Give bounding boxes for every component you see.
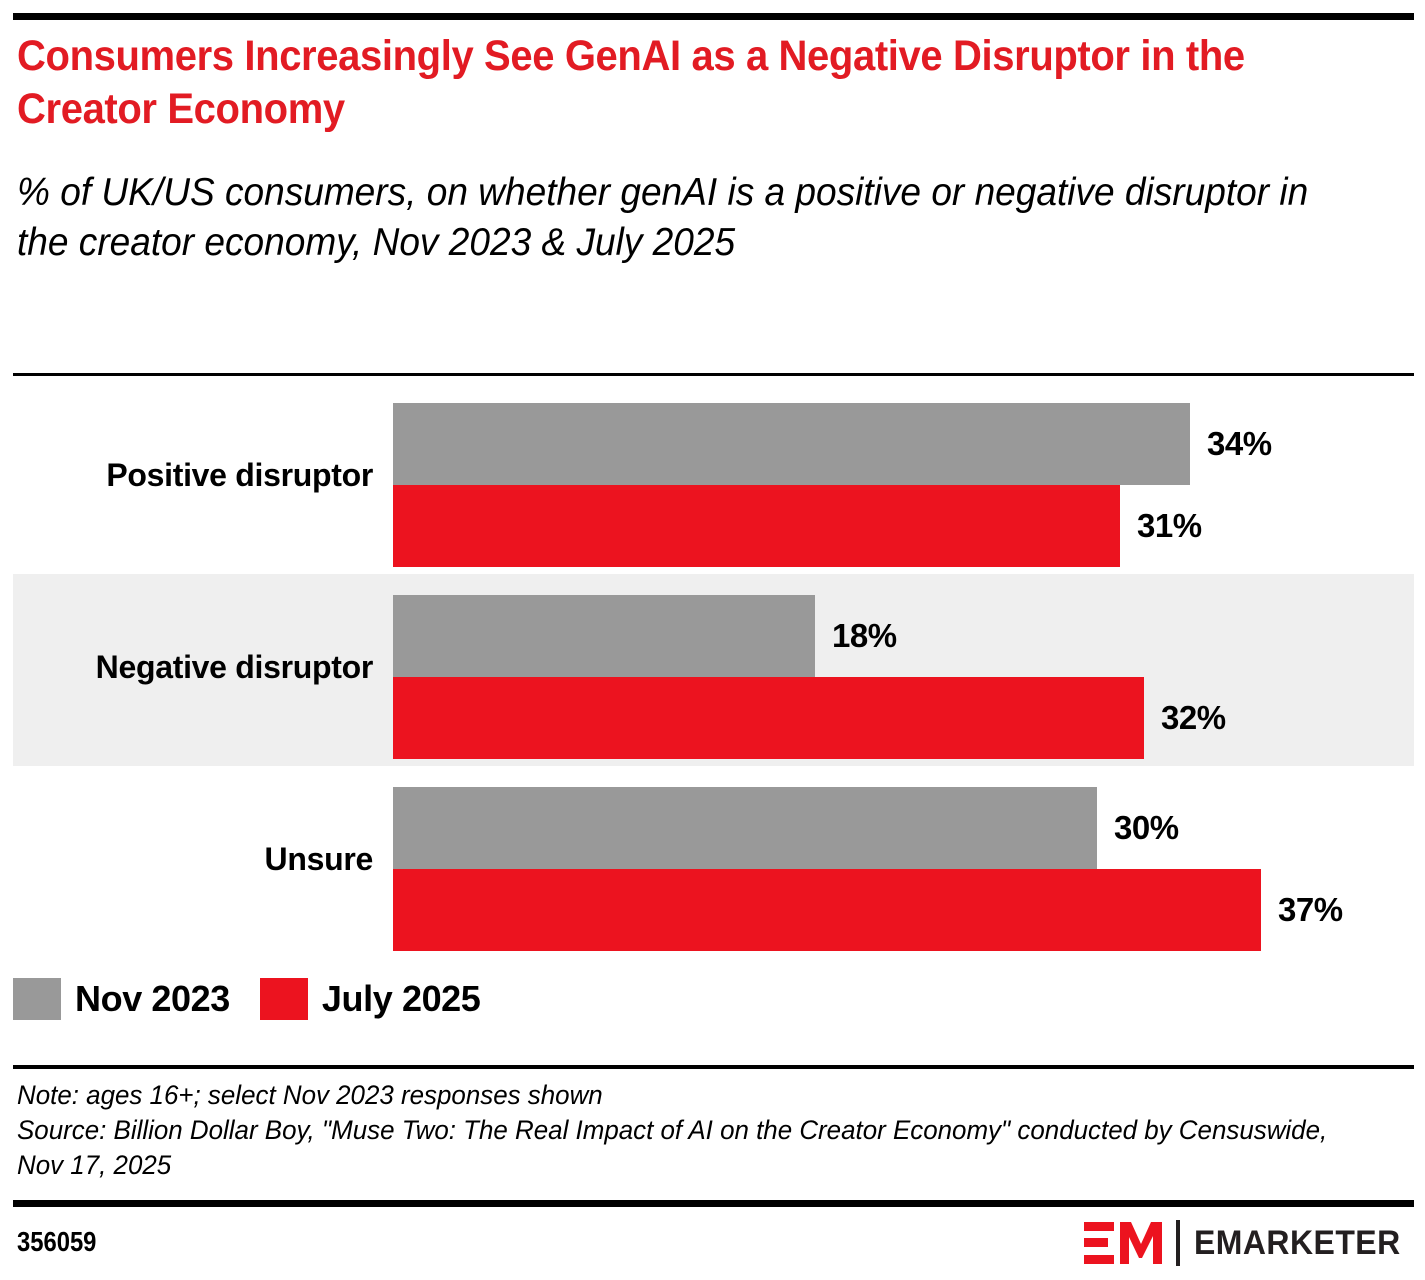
legend-swatch-nov-2023 xyxy=(13,978,61,1020)
em-logo-icon xyxy=(1084,1222,1162,1264)
category-label: Unsure xyxy=(0,841,373,878)
chart-id: 356059 xyxy=(17,1226,96,1258)
chart-title: Consumers Increasingly See GenAI as a Ne… xyxy=(17,30,1310,136)
emarketer-brand: EMARKETER xyxy=(1084,1219,1414,1267)
bar-nov-2023[interactable] xyxy=(393,403,1190,485)
note-divider-rule xyxy=(13,1065,1414,1069)
bar-july-2025[interactable] xyxy=(393,677,1144,759)
top-rule xyxy=(13,13,1414,20)
bar-stack: 30%37% xyxy=(393,787,1425,951)
chart-page: Consumers Increasingly See GenAI as a Ne… xyxy=(0,0,1425,1280)
category-label: Negative disruptor xyxy=(0,649,373,686)
chart-legend: Nov 2023 July 2025 xyxy=(13,978,510,1020)
brand-wordmark: EMARKETER xyxy=(1194,1224,1401,1263)
bar-row: 34% xyxy=(393,403,1425,485)
bar-group: Unsure30%37% xyxy=(0,766,1425,958)
bar-value-label: 37% xyxy=(1261,869,1343,951)
bar-row: 18% xyxy=(393,595,1425,677)
bottom-rule xyxy=(13,1200,1414,1207)
bar-stack: 34%31% xyxy=(393,403,1425,567)
bar-value-label: 18% xyxy=(815,595,897,677)
plot-area: Positive disruptor34%31%Negative disrupt… xyxy=(0,382,1425,962)
bar-nov-2023[interactable] xyxy=(393,595,815,677)
legend-swatch-july-2025 xyxy=(260,978,308,1020)
bar-row: 32% xyxy=(393,677,1425,759)
legend-label-july-2025: July 2025 xyxy=(322,978,481,1020)
bar-row: 31% xyxy=(393,485,1425,567)
bar-value-label: 32% xyxy=(1144,677,1226,759)
legend-item-nov-2023[interactable]: Nov 2023 xyxy=(13,978,230,1020)
bar-group: Positive disruptor34%31% xyxy=(0,382,1425,574)
legend-label-nov-2023: Nov 2023 xyxy=(75,978,230,1020)
bar-nov-2023[interactable] xyxy=(393,787,1097,869)
bar-row: 30% xyxy=(393,787,1425,869)
footnote-source: Source: Billion Dollar Boy, "Muse Two: T… xyxy=(17,1113,1361,1183)
bar-row: 37% xyxy=(393,869,1425,951)
bar-group: Negative disruptor18%32% xyxy=(0,574,1425,766)
bar-stack: 18%32% xyxy=(393,595,1425,759)
legend-item-july-2025[interactable]: July 2025 xyxy=(260,978,481,1020)
chart-subtitle: % of UK/US consumers, on whether genAI i… xyxy=(17,168,1366,268)
brand-divider xyxy=(1176,1220,1180,1266)
bar-value-label: 31% xyxy=(1120,485,1202,567)
category-label: Positive disruptor xyxy=(0,457,373,494)
bar-value-label: 30% xyxy=(1097,787,1179,869)
footnote-block: Note: ages 16+; select Nov 2023 response… xyxy=(17,1078,1361,1183)
header-divider-rule xyxy=(13,373,1414,376)
bar-july-2025[interactable] xyxy=(393,869,1261,951)
bar-value-label: 34% xyxy=(1190,403,1272,485)
footnote-note: Note: ages 16+; select Nov 2023 response… xyxy=(17,1078,1361,1113)
bar-july-2025[interactable] xyxy=(393,485,1120,567)
